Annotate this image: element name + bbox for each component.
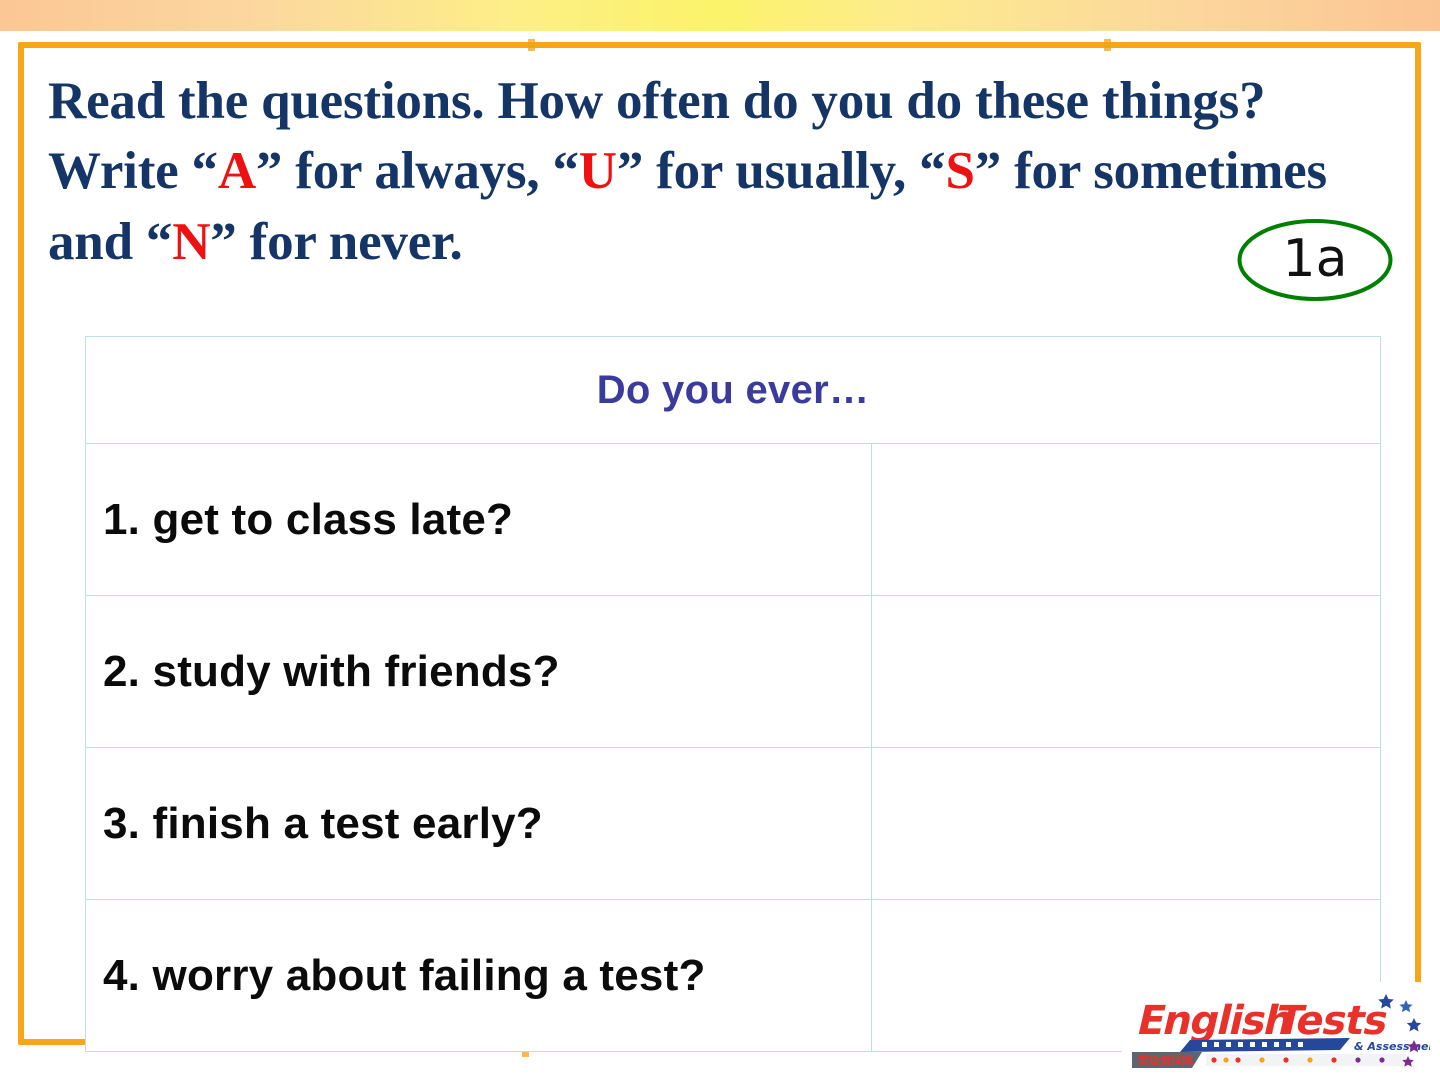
title-part-3: ” for usually, “ (617, 142, 946, 200)
answer-cell-2[interactable] (872, 596, 1381, 748)
questions-table: Do you ever… 1. get to class late? 2. st… (85, 336, 1381, 1052)
english-tests-logo: English Tests & Assessments (1118, 978, 1430, 1078)
title-letter-always: A (218, 142, 256, 200)
logo-tagline: & Assessments (1354, 1040, 1430, 1053)
frame-tick-top-center (528, 39, 535, 51)
activity-badge: 1a (1236, 218, 1394, 302)
title-letter-never: N (172, 213, 210, 271)
table-row: 2. study with friends? (86, 596, 1381, 748)
title-part-2: ” for always, “ (256, 142, 579, 200)
table-row: 1. get to class late? (86, 444, 1381, 596)
top-gradient-band (0, 0, 1440, 31)
logo-cn-text: 英语测试网 (1137, 1053, 1193, 1067)
table-row: 3. finish a test early? (86, 748, 1381, 900)
title-letter-sometimes: S (945, 142, 974, 200)
logo-word-tests: Tests (1271, 996, 1393, 1043)
question-cell-1: 1. get to class late? (86, 444, 872, 596)
english-tests-logo-icon: English Tests & Assessments (1118, 978, 1430, 1078)
frame-tick-top-right (1104, 39, 1111, 51)
table-header-cell: Do you ever… (86, 337, 1381, 444)
answer-cell-1[interactable] (872, 444, 1381, 596)
question-cell-2: 2. study with friends? (86, 596, 872, 748)
svg-text:Tests: Tests (1271, 996, 1393, 1043)
title-letter-usually: U (579, 142, 617, 200)
slide-canvas: Read the questions. How often do you do … (0, 0, 1440, 1080)
logo-dot-row (1206, 1054, 1406, 1066)
title-part-5: ” for never. (210, 213, 462, 271)
question-cell-3: 3. finish a test early? (86, 748, 872, 900)
logo-ribbon-stars (1202, 1042, 1303, 1047)
activity-badge-label: 1a (1236, 218, 1394, 302)
question-cell-4: 4. worry about failing a test? (86, 900, 872, 1052)
answer-cell-3[interactable] (872, 748, 1381, 900)
page-title: Read the questions. How often do you do … (48, 66, 1338, 277)
table-header-row: Do you ever… (86, 337, 1381, 444)
